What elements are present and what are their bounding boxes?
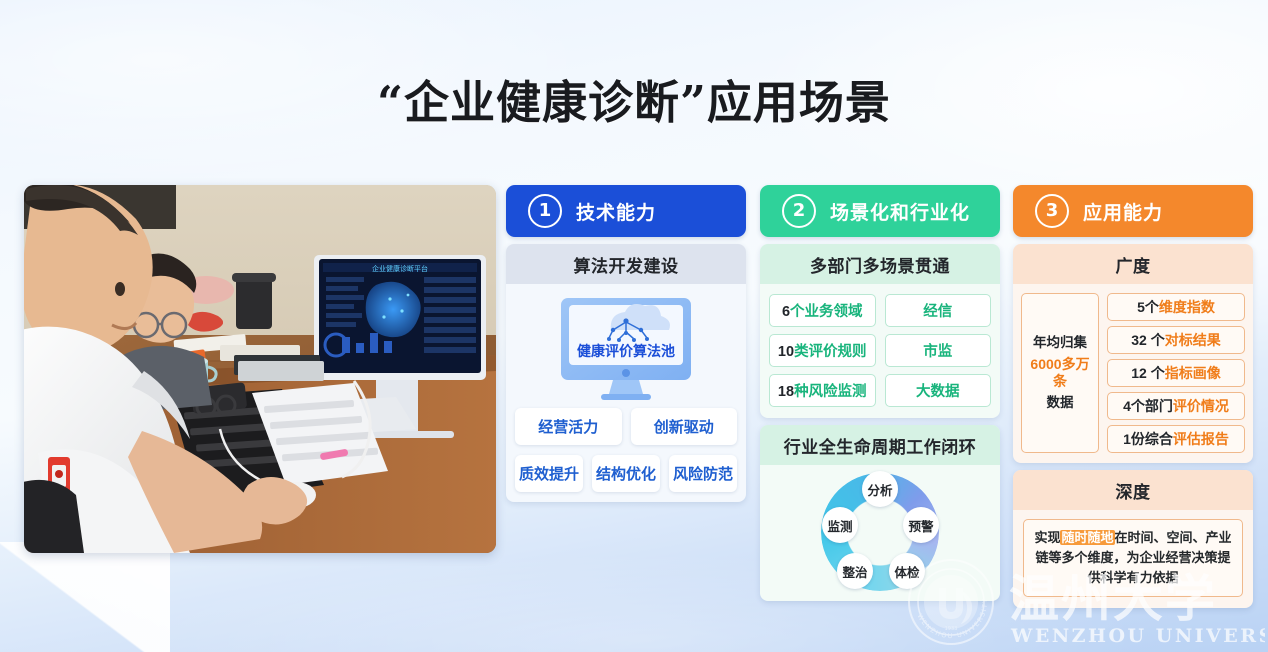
breadth-item-benchmark-results[interactable]: 32 个对标结果	[1107, 326, 1245, 354]
tag-structure-optimization[interactable]: 结构优化	[592, 455, 660, 492]
scope-text-0: 个业务领域	[790, 304, 863, 320]
section-title-lifecycle-loop: 行业全生命周期工作闭环	[760, 425, 1000, 465]
capability-tag-row-2: 质效提升 结构优化 风险防范	[506, 455, 746, 502]
breadth-num-0: 5个	[1137, 299, 1159, 315]
scope-tag-list: 6个业务领域 10类评价规则 18种风险监测	[769, 294, 876, 407]
breadth-num-1: 32 个	[1131, 332, 1164, 348]
section-title-algorithm-development: 算法开发建设	[506, 244, 746, 284]
section-title-multi-department: 多部门多场景贯通	[760, 244, 1000, 284]
scope-text-2: 种风险监测	[794, 384, 867, 400]
breadth-item-indicator-profile[interactable]: 12 个指标画像	[1107, 359, 1245, 387]
department-tag-list: 经信 市监 大数据	[885, 294, 992, 407]
stat-line-3: 数据	[1047, 395, 1074, 412]
depth-highlight: 随时随地	[1060, 530, 1114, 545]
scope-num-0: 6	[782, 304, 790, 320]
column-scenario-industry: 2 场景化和行业化 多部门多场景贯通 6个业务领域 10类评价规则 18种风险监…	[760, 185, 1000, 601]
tag-risk-prevention[interactable]: 风险防范	[669, 455, 737, 492]
column-2-label: 场景化和行业化	[830, 198, 970, 225]
tag-business-vitality[interactable]: 经营活力	[515, 408, 622, 445]
breadth-text-4: 评估报告	[1173, 431, 1229, 447]
monitor-screen-label: 健康评价算法池	[577, 343, 675, 360]
breadth-num-4: 1份综合	[1123, 431, 1173, 447]
breadth-item-dimension-index[interactable]: 5个维度指数	[1107, 293, 1245, 321]
monitor-illustration: 健康评价算法池	[506, 284, 746, 408]
background-sweep	[0, 542, 170, 652]
breadth-item-department-evaluation[interactable]: 4个部门评价情况	[1107, 392, 1245, 420]
department-tag-shijian[interactable]: 市监	[885, 334, 992, 367]
column-1-header: 1 技术能力	[506, 185, 746, 237]
logo-crest: 1933 WENZHOU UNIVERSITY	[909, 560, 993, 644]
capability-tag-row-1: 经营活力 创新驱动	[506, 408, 746, 455]
lifecycle-node-rectification[interactable]: 整治	[837, 553, 873, 589]
breadth-item-list: 5个维度指数 32 个对标结果 12 个指标画像 4个部门评价情况 1份综合评估…	[1107, 293, 1245, 453]
multi-department-grid: 6个业务领域 10类评价规则 18种风险监测 经信 市监 大数据	[760, 284, 1000, 418]
svg-text:1933: 1933	[945, 626, 958, 632]
breadth-grid: 年均归集 6000多万条 数据 5个维度指数 32 个对标结果 12 个指标画像…	[1013, 284, 1253, 463]
scope-text-1: 类评价规则	[794, 344, 867, 360]
breadth-num-3: 4个部门	[1123, 398, 1173, 414]
section-title-depth: 深度	[1013, 470, 1253, 510]
lifecycle-node-monitoring[interactable]: 监测	[822, 507, 858, 543]
column-3-header: 3 应用能力	[1013, 185, 1253, 237]
depth-text-before: 实现	[1034, 530, 1060, 545]
breadth-text-0: 维度指数	[1159, 299, 1215, 315]
breadth-text-2: 指标画像	[1165, 365, 1221, 381]
lifecycle-node-analysis[interactable]: 分析	[862, 471, 898, 507]
section-title-breadth: 广度	[1013, 244, 1253, 284]
scope-tag-evaluation-rules[interactable]: 10类评价规则	[769, 334, 876, 367]
column-3-number: 3	[1035, 194, 1069, 228]
svg-text:企业健康诊断平台: 企业健康诊断平台	[372, 264, 428, 273]
column-2-number: 2	[782, 194, 816, 228]
breadth-text-1: 对标结果	[1165, 332, 1221, 348]
column-technical-capability: 1 技术能力 算法开发建设	[506, 185, 746, 502]
scope-tag-business-domains[interactable]: 6个业务领域	[769, 294, 876, 327]
breadth-text-3: 评价情况	[1173, 398, 1229, 414]
stat-line-2: 6000多万条	[1024, 356, 1096, 391]
department-tag-jingxin[interactable]: 经信	[885, 294, 992, 327]
scope-num-2: 18	[778, 384, 794, 400]
page-title: “企业健康诊断”应用场景	[0, 66, 1268, 131]
scenario-photo: 企业健康诊断平台	[24, 185, 496, 553]
breadth-num-2: 12 个	[1131, 365, 1164, 381]
tag-quality-improvement[interactable]: 质效提升	[515, 455, 583, 492]
tag-innovation-drive[interactable]: 创新驱动	[631, 408, 738, 445]
column-3-label: 应用能力	[1083, 198, 1163, 225]
scope-tag-risk-monitoring[interactable]: 18种风险监测	[769, 374, 876, 407]
data-volume-stat: 年均归集 6000多万条 数据	[1021, 293, 1099, 453]
breadth-item-assessment-report[interactable]: 1份综合评估报告	[1107, 425, 1245, 453]
scope-num-1: 10	[778, 344, 794, 360]
wenzhou-university-logo: 1933 WENZHOU UNIVERSITY 温州大学 WENZHOU UNI…	[905, 558, 1265, 650]
column-2-header: 2 场景化和行业化	[760, 185, 1000, 237]
stat-line-1: 年均归集	[1033, 335, 1087, 352]
lifecycle-node-warning[interactable]: 预警	[903, 507, 939, 543]
column-application-capability: 3 应用能力 广度 年均归集 6000多万条 数据 5个维度指数 32 个对标结…	[1013, 185, 1253, 608]
column-1-label: 技术能力	[576, 198, 656, 225]
column-1-panel: 算法开发建设	[506, 244, 746, 502]
column-1-number: 1	[528, 194, 562, 228]
column-2-panel-multidept: 多部门多场景贯通 6个业务领域 10类评价规则 18种风险监测 经信 市监 大数…	[760, 244, 1000, 418]
logo-english-name: WENZHOU UNIVERSITY	[1010, 625, 1265, 647]
column-3-panel-breadth: 广度 年均归集 6000多万条 数据 5个维度指数 32 个对标结果 12 个指…	[1013, 244, 1253, 463]
logo-chinese-name: 温州大学	[1009, 569, 1217, 628]
department-tag-bigdata[interactable]: 大数据	[885, 374, 992, 407]
